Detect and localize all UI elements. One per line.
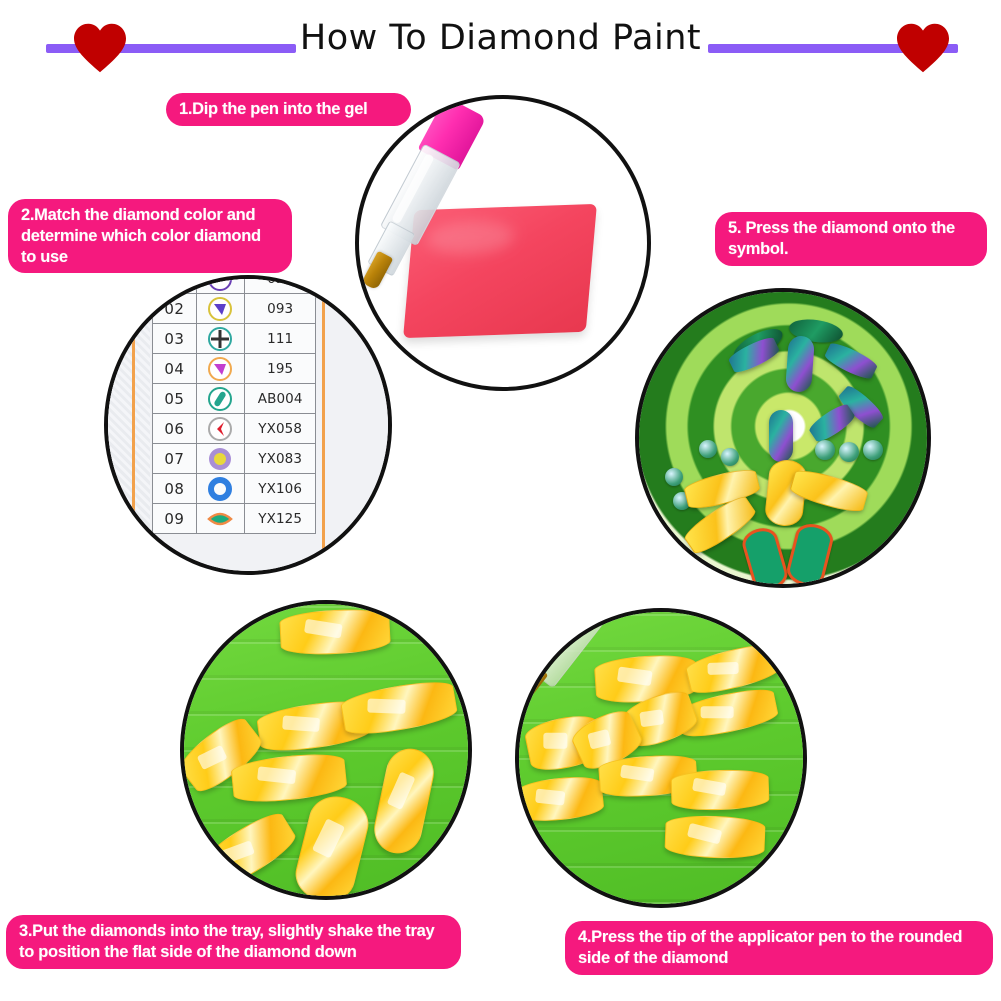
table-row: 03 111 (153, 324, 316, 354)
canvas-gem (863, 440, 883, 460)
cell-symbol (196, 354, 245, 384)
canvas-gem (721, 448, 739, 466)
cell-symbol (196, 474, 245, 504)
canvas-gem (699, 440, 717, 458)
canvas-gem (839, 442, 859, 462)
plus-circle-icon (207, 326, 233, 352)
cell-symbol (196, 324, 245, 354)
cell-code: YX125 (245, 504, 316, 534)
step-label-2: 2.Match the diamond color and determine … (8, 199, 292, 273)
cell-number: 07 (153, 444, 197, 474)
table-row: 05 AB004 (153, 384, 316, 414)
cell-code: AB004 (245, 384, 316, 414)
canvas-gem (769, 410, 793, 462)
table-row: 06 YX058 (153, 414, 316, 444)
table-row: 01 020 (153, 275, 316, 294)
header: How To Diamond Paint (0, 0, 1001, 86)
triangle-circle-icon (207, 296, 233, 322)
cell-code: 093 (245, 294, 316, 324)
photo-printed-color-chart: 01 020 02 (104, 275, 392, 575)
orange-guide-line (322, 279, 325, 571)
table-row: 08 YX106 (153, 474, 316, 504)
table-row: 07 YX083 (153, 444, 316, 474)
arrow-circle-icon (207, 416, 233, 442)
photo-diamonds-in-green-tray (180, 600, 472, 900)
cell-code: 020 (245, 275, 316, 294)
yellow-diamond (670, 768, 769, 811)
cell-code: YX083 (245, 444, 316, 474)
cell-symbol (196, 275, 245, 294)
cell-number: 01 (153, 275, 197, 294)
step-label-3: 3.Put the diamonds into the tray, slight… (6, 915, 461, 969)
two-dots-circle-icon (207, 275, 233, 292)
triangle-circle-icon (207, 356, 233, 382)
color-legend-table: 01 020 02 (152, 275, 316, 534)
step-label-5: 5. Press the diamond onto the symbol. (715, 212, 987, 266)
orange-guide-line (132, 279, 135, 571)
cell-number: 05 (153, 384, 197, 414)
cell-code: 195 (245, 354, 316, 384)
yellow-diamond (664, 814, 765, 859)
photo-pen-picking-up-diamond (515, 608, 807, 908)
leaf-icon (207, 506, 233, 532)
cell-code: 111 (245, 324, 316, 354)
table-row: 09 YX125 (153, 504, 316, 534)
cell-symbol (196, 384, 245, 414)
canvas-weave-edge (108, 279, 150, 571)
infographic-canvas: How To Diamond Paint 1.Dip the pen into … (0, 0, 1001, 1001)
photo-placing-diamond-on-canvas (635, 288, 931, 588)
cell-symbol (196, 444, 245, 474)
cell-number: 04 (153, 354, 197, 384)
canvas-gem (815, 440, 835, 460)
cell-symbol (196, 504, 245, 534)
cell-number: 09 (153, 504, 197, 534)
ring-circle-icon (207, 476, 233, 502)
cell-number: 08 (153, 474, 197, 504)
table-row: 02 093 (153, 294, 316, 324)
cell-number: 06 (153, 414, 197, 444)
cell-number: 02 (153, 294, 197, 324)
step-label-4: 4.Press the tip of the applicator pen to… (565, 921, 993, 975)
canvas-gem (785, 335, 815, 393)
cell-symbol (196, 294, 245, 324)
page-title: How To Diamond Paint (0, 18, 1001, 58)
cell-symbol (196, 414, 245, 444)
slash-circle-icon (207, 386, 233, 412)
table-row: 04 195 (153, 354, 316, 384)
photo-pen-dipped-in-gel (355, 95, 651, 391)
canvas-gem (665, 468, 683, 486)
cell-number: 03 (153, 324, 197, 354)
cell-code: YX058 (245, 414, 316, 444)
pen-tip-icon (515, 666, 548, 710)
cell-code: YX106 (245, 474, 316, 504)
dot-ring-icon (207, 446, 233, 472)
